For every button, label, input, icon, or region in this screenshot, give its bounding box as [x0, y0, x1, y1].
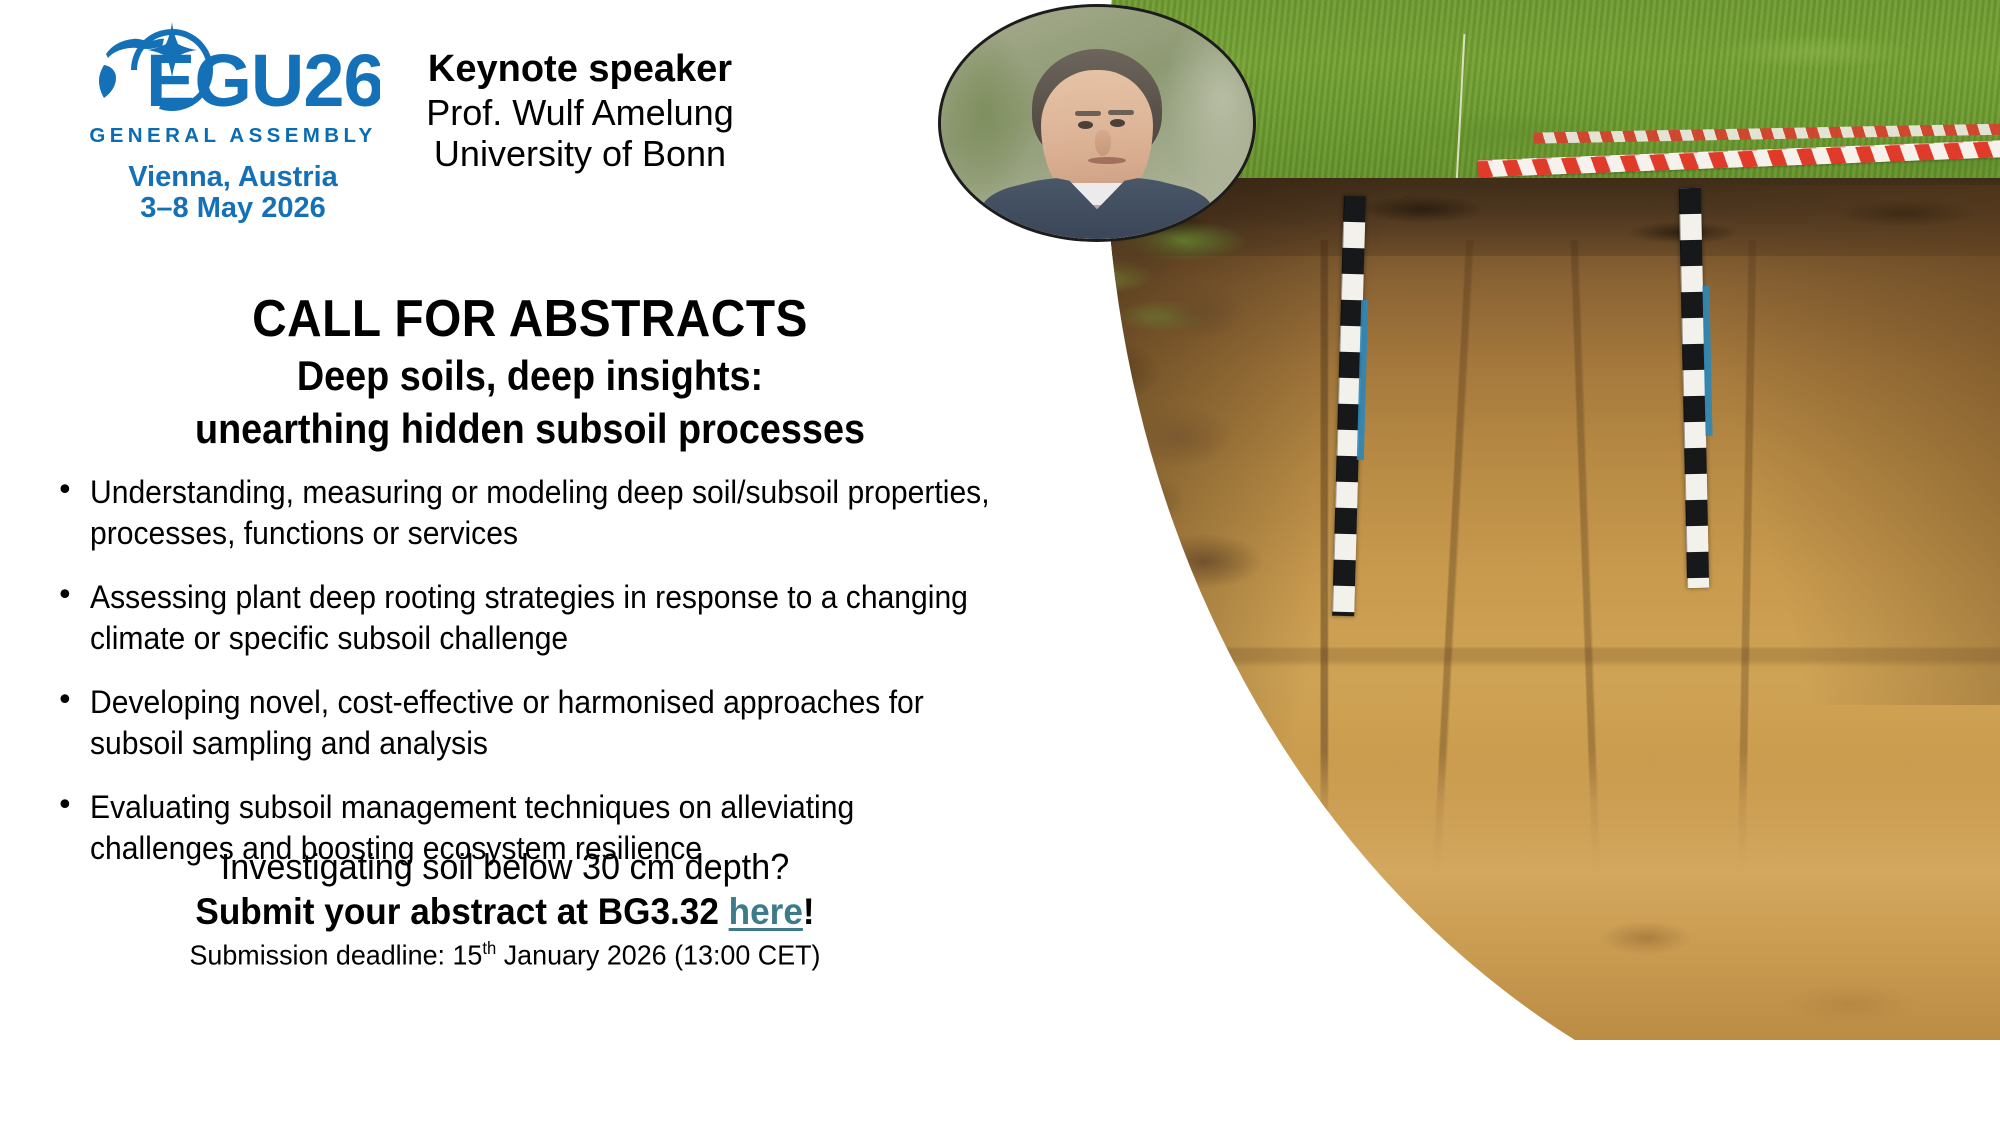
keynote-block: Keynote speaker Prof. Wulf Amelung Unive…: [300, 48, 860, 174]
avatar: [938, 4, 1256, 242]
deadline-ordinal: th: [482, 938, 496, 958]
deadline-suffix: January 2026 (13:00 CET): [496, 939, 820, 970]
list-item: • Understanding, measuring or modeling d…: [52, 472, 1062, 554]
bullet-marker-icon: •: [52, 472, 90, 510]
headline-block: CALL FOR ABSTRACTS Deep soils, deep insi…: [0, 290, 1060, 454]
portrait-eyebrow-right: [1108, 110, 1134, 115]
bullet-marker-icon: •: [52, 577, 90, 615]
submit-abstract-link[interactable]: here: [729, 891, 803, 932]
session-subtitle-line1: Deep soils, deep insights:: [53, 352, 1007, 401]
submission-deadline: Submission deadline: 15th January 2026 (…: [20, 938, 990, 971]
cta-submit-suffix: !: [803, 891, 815, 932]
list-item: • Assessing plant deep rooting strategie…: [52, 577, 1062, 659]
list-item: • Developing novel, cost-effective or ha…: [52, 682, 1062, 764]
cta-question: Investigating soil below 30 cm depth?: [25, 845, 985, 888]
bullet-marker-icon: •: [52, 682, 90, 720]
portrait-mouth: [1088, 157, 1126, 164]
excavated-rubble: [1068, 740, 2000, 1040]
bullet-text: Understanding, measuring or modeling dee…: [90, 472, 1004, 554]
session-subtitle-line2: unearthing hidden subsoil processes: [53, 405, 1007, 454]
pit-right-shading: [1609, 185, 2000, 705]
bullet-text: Assessing plant deep rooting strategies …: [90, 577, 1004, 659]
bullet-marker-icon: •: [52, 787, 90, 825]
keynote-affiliation: University of Bonn: [300, 133, 860, 174]
topic-bullet-list: • Understanding, measuring or modeling d…: [52, 472, 1062, 892]
keynote-label: Keynote speaker: [300, 48, 860, 92]
portrait-eye-left: [1078, 121, 1093, 129]
bullet-text: Developing novel, cost-effective or harm…: [90, 682, 1004, 764]
call-for-abstracts-title: CALL FOR ABSTRACTS: [42, 290, 1017, 348]
pit-crumbly-edge: [1068, 200, 1478, 630]
poster-canvas: EGU26 GENERAL ASSEMBLY Vienna, Austria 3…: [0, 0, 2000, 1125]
content-column: EGU26 GENERAL ASSEMBLY Vienna, Austria 3…: [0, 0, 1080, 1125]
call-to-action-block: Investigating soil below 30 cm depth? Su…: [0, 845, 1010, 935]
cta-submit-line: Submit your abstract at BG3.32 here!: [25, 890, 985, 934]
egu-dates: 3–8 May 2026: [76, 193, 390, 224]
keynote-speaker-name: Prof. Wulf Amelung: [300, 92, 860, 133]
deadline-prefix: Submission deadline: 15: [189, 939, 482, 970]
portrait-eyebrow-left: [1075, 111, 1101, 116]
cta-submit-prefix: Submit your abstract at BG3.32: [195, 891, 728, 932]
